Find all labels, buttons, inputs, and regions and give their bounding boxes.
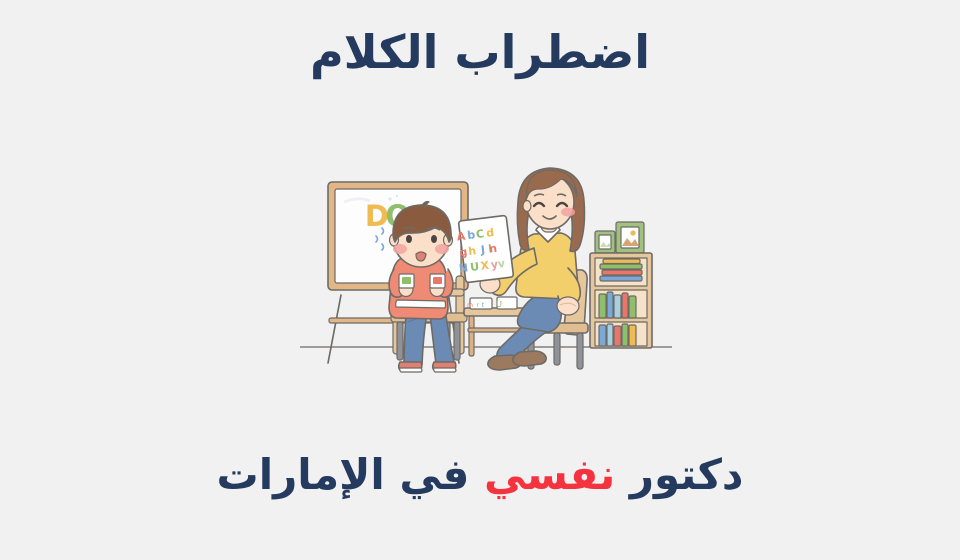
svg-text:h: h — [468, 244, 477, 258]
speech-therapy-illustration: .ol { stroke:#6e6a66; stroke-width:1.6; … — [296, 150, 676, 412]
book-stack — [600, 259, 642, 281]
book-row-middle — [599, 292, 636, 318]
svg-text:N: N — [458, 261, 469, 275]
poster-canvas: اضطراب الكلام .ol { stroke:#6e6a66; stro… — [0, 0, 960, 560]
book-row-bottom — [599, 324, 636, 346]
svg-text:m: m — [467, 302, 473, 309]
alphabet-card: A b C d g h J l n N U X y v — [454, 215, 513, 282]
child-shoes — [399, 362, 456, 372]
subtitle: دكتور نفسي في الإمارات — [0, 448, 960, 503]
child-eye-left — [406, 235, 412, 243]
child-blush-left — [393, 244, 407, 254]
bookshelf — [590, 222, 652, 348]
picture-frame-small — [595, 231, 615, 253]
svg-text:U: U — [496, 300, 502, 309]
child-mouth — [416, 252, 426, 261]
subtitle-accent-word: نفسي — [484, 450, 615, 499]
child-blush-right — [435, 244, 449, 254]
page-title: اضطراب الكلام — [0, 24, 960, 82]
child-eye-right — [431, 235, 437, 243]
illustration-container: .ol { stroke:#6e6a66; stroke-width:1.6; … — [296, 150, 676, 412]
svg-text:n: n — [488, 242, 497, 256]
subtitle-part-1: دكتور — [615, 450, 743, 499]
child-leg-left — [404, 315, 426, 365]
svg-text:d: d — [485, 226, 494, 240]
svg-text:U: U — [469, 260, 479, 274]
therapist-blush — [561, 208, 575, 217]
picture-frame-large — [616, 222, 644, 253]
table-flashcards: m r t U — [467, 297, 517, 309]
subtitle-part-2: في الإمارات — [217, 450, 484, 499]
svg-text:C: C — [475, 227, 485, 241]
svg-text:g: g — [459, 245, 468, 259]
